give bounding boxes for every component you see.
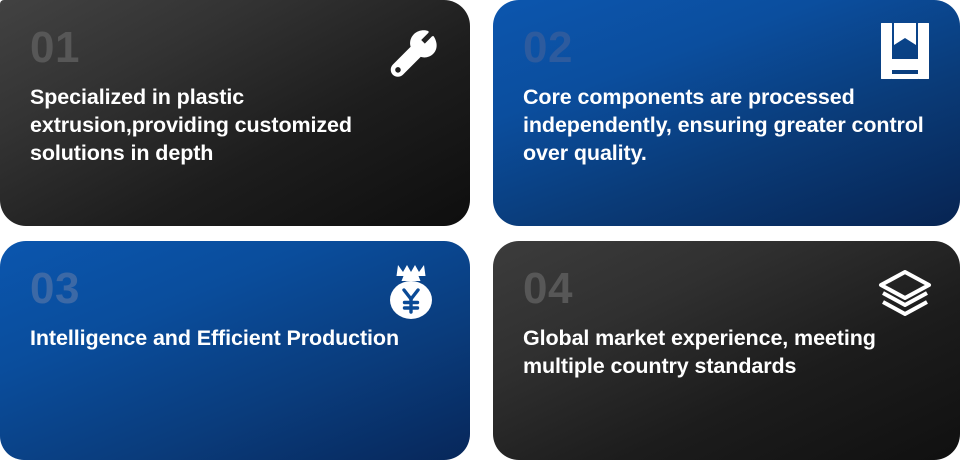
card-title-01: Specialized in plastic extrusion,providi… xyxy=(30,84,440,168)
card-title-03: Intelligence and Efficient Production xyxy=(30,325,410,353)
feature-card-03[interactable]: 03 Intelligence and Efficient Production xyxy=(0,241,470,460)
card-number-04: 04 xyxy=(523,267,930,311)
card-number-02: 02 xyxy=(523,26,930,70)
card-title-04: Global market experience, meeting multip… xyxy=(523,325,930,381)
feature-card-02[interactable]: 02 Core components are processed indepen… xyxy=(493,0,960,226)
card-title-02: Core components are processed independen… xyxy=(523,84,930,168)
feature-card-04[interactable]: 04 Global market experience, meeting mul… xyxy=(493,241,960,460)
card-number-01: 01 xyxy=(30,26,440,70)
feature-card-grid: 01 Specialized in plastic extrusion,prov… xyxy=(0,0,960,459)
feature-card-01[interactable]: 01 Specialized in plastic extrusion,prov… xyxy=(0,0,470,226)
card-number-03: 03 xyxy=(30,267,440,311)
